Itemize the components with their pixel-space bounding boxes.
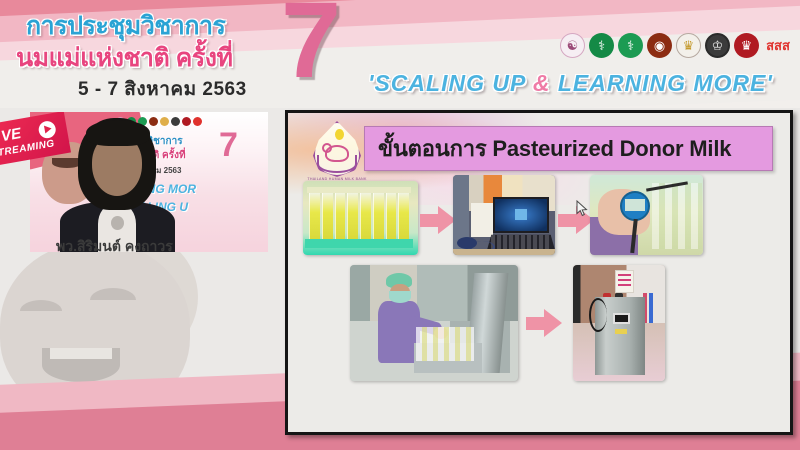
screen: 7 การประชุมวิชาการ นมแม่แห่งชาติ ครั้งที…	[0, 0, 800, 450]
royal-crest-glyph: ♛	[683, 39, 695, 52]
screen-logo	[515, 209, 527, 220]
photo-pasteurizer-machine	[573, 265, 665, 381]
bottle	[335, 193, 346, 241]
wall-sign	[615, 270, 634, 293]
desk-surface	[453, 249, 555, 255]
sponsor-logo-strip: ☯ ⚕ ⚕ ◉ ♛ ♔ ♛ สสส	[560, 27, 796, 63]
process-arrow-1	[420, 205, 456, 235]
event-header-banner: 7 การประชุมวิชาการ นมแม่แห่งชาติ ครั้งที…	[0, 0, 800, 108]
poster-logo-7	[182, 117, 191, 126]
event-title-line2: นมแม่แห่งชาติ ครั้งที่	[16, 38, 233, 78]
bottle	[398, 193, 409, 241]
royal-thai-emblem-logo: ♛	[676, 33, 701, 58]
bottle	[360, 193, 371, 241]
photo-hand-holding-thermometer	[590, 175, 703, 255]
crest-glyph: ♛	[741, 39, 753, 52]
pallet-base	[305, 239, 413, 248]
event-date-range: 5 - 7 สิงหาคม 2563	[78, 74, 247, 104]
bottle-row	[309, 193, 409, 241]
paper-stack	[471, 203, 493, 237]
speaker-brooch	[111, 216, 124, 230]
thermometer-display	[625, 199, 645, 211]
power-cord	[589, 298, 607, 332]
surgical-mask	[389, 291, 411, 303]
slide-title-text: ขั้นตอนการ Pasteurized Donor Milk	[365, 131, 731, 166]
live-video-panel[interactable]: การประชุมวิชาการ นมแม่แห่งชาติ ครั้งที่ …	[0, 112, 268, 252]
health-glyph: ⚕	[627, 39, 634, 52]
control-panel-display	[613, 313, 630, 324]
computer-mouse	[457, 237, 477, 249]
arrow-shaft	[420, 214, 440, 227]
mouse-pointer	[576, 200, 588, 218]
arrow-head	[544, 309, 562, 337]
thai-breastfeeding-foundation-logo: ☯	[560, 33, 585, 58]
photo-nurse-loading-pasteurizer	[350, 265, 518, 381]
thaihealth-sss-logo: สสส	[763, 33, 793, 58]
bottle	[386, 193, 397, 241]
milk-droplet-highlight	[335, 129, 344, 140]
university-seal-logo: ♔	[705, 33, 730, 58]
bottle	[322, 193, 333, 241]
play-icon	[37, 120, 57, 140]
speaker-fringe	[86, 120, 150, 146]
bottle	[347, 193, 358, 241]
blue-tube	[649, 293, 653, 323]
pagoda-glyph: ◉	[654, 39, 665, 52]
poster-logo-4	[149, 117, 158, 126]
ministry-of-public-health-logo: ⚕	[589, 33, 614, 58]
royal-college-logo: ◉	[647, 33, 672, 58]
yellow-label	[615, 329, 627, 334]
event-tagline: 'SCALING UP & LEARNING MORE'	[368, 70, 773, 97]
sss-glyph: สสส	[766, 39, 790, 52]
seal-glyph: ♔	[712, 39, 724, 52]
arrow-shaft	[526, 317, 546, 330]
tagline-suffix: LEARNING MORE'	[550, 70, 772, 96]
red-crest-logo: ♛	[734, 33, 759, 58]
live-label: VE	[0, 125, 22, 145]
poster-logo-5	[160, 117, 169, 126]
milk-cradling-arms	[317, 155, 357, 173]
poster-edition-number: 7	[219, 128, 238, 162]
photo-bottles-on-pallet	[303, 181, 418, 255]
laptop-keyboard	[491, 235, 551, 250]
presentation-slide[interactable]: THAILAND HUMAN MILK BANK ขั้นตอนการ Past…	[285, 110, 793, 435]
speaker-name: พว.สิริมนต์ คงถาวร	[56, 236, 173, 258]
watermark-teeth	[50, 348, 112, 359]
foundation-glyph: ☯	[567, 39, 579, 52]
photo-laptop-record-desk	[453, 175, 555, 255]
slide-title-bar: ขั้นตอนการ Pasteurized Donor Milk	[364, 126, 773, 171]
bottle	[309, 193, 320, 241]
department-of-health-logo: ⚕	[618, 33, 643, 58]
background-bottles	[652, 183, 702, 249]
tagline-prefix: 'SCALING UP	[368, 70, 533, 96]
edition-number: 7	[281, 0, 341, 94]
arrow-shaft	[558, 214, 578, 227]
poster-logo-8	[193, 117, 202, 126]
milk-bottles-in-tray	[416, 327, 474, 361]
caduceus-glyph: ⚕	[598, 39, 605, 52]
bottle	[373, 193, 384, 241]
poster-logo-6	[171, 117, 180, 126]
tagline-ampersand: &	[533, 70, 551, 96]
process-arrow-3	[526, 308, 562, 338]
